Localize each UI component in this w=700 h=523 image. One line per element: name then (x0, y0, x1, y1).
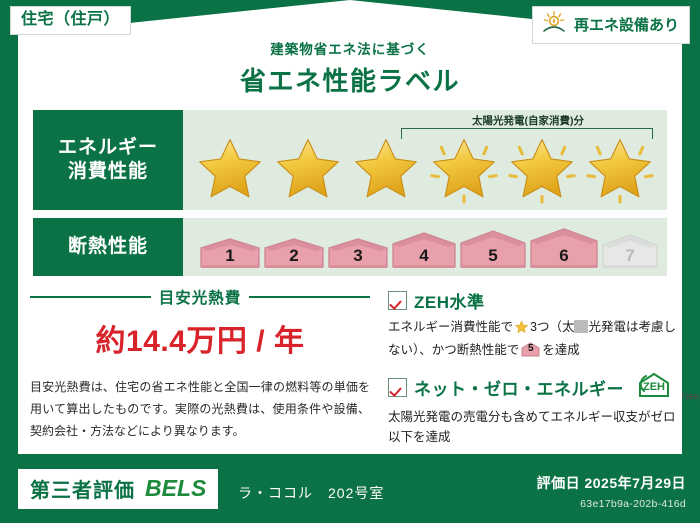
utility-cost-title-row: 目安光熱費 (30, 286, 370, 308)
zeh-standard-head: ZEH水準 (388, 288, 676, 313)
svg-text:ZEH: ZEH (643, 381, 665, 393)
insulation-house-3: 3 (327, 237, 389, 271)
star-3-icon (347, 134, 425, 204)
insulation-house-3-value: 3 (327, 246, 389, 266)
star-5-icon (503, 134, 581, 204)
renewable-badge-label: 再エネ設備あり (574, 14, 679, 35)
insulation-panel-label: 断熱性能 (33, 218, 183, 276)
insulation-house-2: 2 (263, 237, 325, 271)
sun-icon (541, 11, 567, 38)
insulation-performance-panel: 断熱性能 1234567 (33, 218, 667, 276)
zeh-logo-caption: 「ZEH」 (678, 392, 700, 402)
renewable-equipment-badge: 再エネ設備あり (532, 6, 690, 44)
star-1-icon (191, 134, 269, 204)
bels-en-text: BELS (145, 475, 206, 502)
redacted-character (574, 320, 588, 333)
insulation-panel-body: 1234567 (183, 218, 667, 276)
zeh-net-zero-head: ネット・ゼロ・エネルギー ZEH 「ZEH」 (388, 372, 676, 403)
insulation-level-chip-value: 5 (521, 341, 540, 357)
insulation-house-1: 1 (199, 237, 261, 271)
insulation-label-text: 断熱性能 (68, 235, 148, 259)
zeh-desc-part4: を達成 (542, 343, 580, 357)
energy-performance-label: 住宅（住戸） 再エネ設備あり 建築物省エネ法に基づく 省エネ性能ラベル (0, 0, 700, 523)
insulation-house-2-value: 2 (263, 246, 325, 266)
star-4-icon (425, 134, 503, 204)
solar-self-consumption-note: 太陽光発電(自家消費)分 (403, 113, 653, 128)
energy-panel-body: 太陽光発電(自家消費)分 (183, 110, 667, 210)
check-icon-zeh-standard (388, 291, 407, 310)
star-icon-inline (514, 320, 529, 340)
insulation-house-6-value: 6 (529, 246, 599, 266)
insulation-house-7: 7 (601, 233, 659, 271)
energy-panel-label: エネルギー 消費性能 (33, 110, 183, 210)
energy-label-line2: 消費性能 (68, 160, 148, 184)
insulation-house-7-value: 7 (601, 246, 659, 266)
building-type-tag: 住宅（住戸） (10, 6, 131, 35)
utility-cost-block: 目安光熱費 約14.4万円 / 年 目安光熱費は、住宅の省エネ性能と全国一律の燃… (30, 286, 370, 443)
zeh-standard-desc: エネルギー消費性能で3つ（太光発電は考慮しない）、かつ断熱性能で5を達成 (388, 317, 676, 360)
insulation-level-chip: 5 (521, 342, 540, 357)
bels-badge: 第三者評価 BELS (18, 469, 218, 509)
zeh-desc-part2: 3つ（太 (530, 320, 574, 334)
zeh-desc-part1: エネルギー消費性能で (388, 320, 513, 334)
insulation-house-5: 5 (459, 229, 527, 271)
check-icon-net-zero (388, 378, 407, 397)
utility-cost-value: 約14.4万円 / 年 (30, 316, 370, 360)
insulation-level-scale: 1234567 (199, 227, 659, 271)
insulation-house-1-value: 1 (199, 246, 261, 266)
label-footer: 第三者評価 BELS ラ・ココル 202号室 評価日 2025年7月29日 63… (0, 461, 700, 523)
zeh-item-standard: ZEH水準 エネルギー消費性能で3つ（太光発電は考慮しない）、かつ断熱性能で5を… (388, 288, 676, 360)
rule-right (249, 296, 370, 298)
insulation-house-6: 6 (529, 227, 599, 271)
energy-consumption-panel: エネルギー 消費性能 太陽光発電(自家消費)分 (33, 110, 667, 210)
zeh-block: ZEH水準 エネルギー消費性能で3つ（太光発電は考慮しない）、かつ断熱性能で5を… (388, 288, 676, 459)
evaluation-id: 63e17b9a-202b-416d (580, 498, 686, 510)
zeh-net-zero-desc: 太陽光発電の売電分も含めてエネルギー収支がゼロ以下を達成 (388, 407, 676, 447)
zeh-standard-title: ZEH水準 (414, 288, 485, 313)
star-6-icon (581, 134, 659, 204)
evaluation-date: 評価日 2025年7月29日 (537, 473, 686, 493)
bels-jp-text: 第三者評価 (30, 474, 135, 503)
rule-left (30, 296, 151, 298)
star-2-icon (269, 134, 347, 204)
zeh-net-zero-title: ネット・ゼロ・エネルギー (414, 375, 624, 400)
utility-cost-note: 目安光熱費は、住宅の省エネ性能と全国一律の燃料等の単価を用いて算出したものです。… (30, 376, 370, 443)
insulation-house-4-value: 4 (391, 246, 457, 266)
zeh-item-net-zero: ネット・ゼロ・エネルギー ZEH 「ZEH」 太陽光発電の売電分も含めてエネルギ… (388, 372, 676, 447)
energy-label-line1: エネルギー (58, 136, 158, 160)
building-name: ラ・ココル 202号室 (238, 483, 384, 503)
utility-cost-title: 目安光熱費 (159, 286, 242, 308)
insulation-house-4: 4 (391, 231, 457, 271)
star-rating (191, 134, 661, 204)
insulation-house-5-value: 5 (459, 246, 527, 266)
zeh-logo-icon: ZEH 「ZEH」 (636, 372, 676, 403)
